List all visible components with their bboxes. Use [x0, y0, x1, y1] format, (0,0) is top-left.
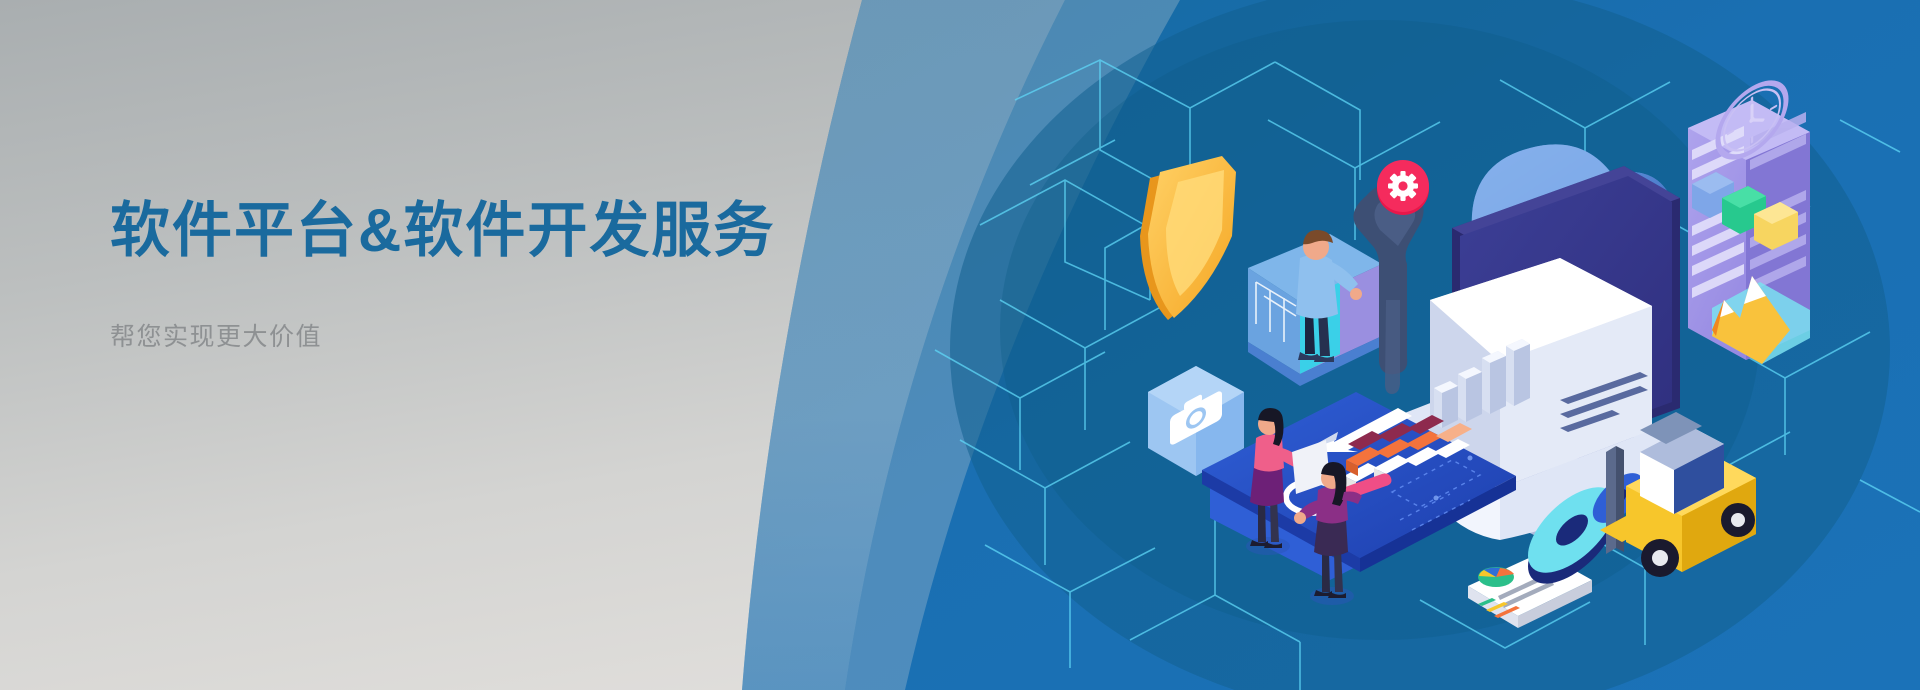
banner-text-block: 软件平台&软件开发服务 帮您实现更大价值 — [110, 196, 870, 353]
gear-badge-icon — [1377, 160, 1429, 215]
pie-chart-icon — [1478, 567, 1514, 587]
page-title: 软件平台&软件开发服务 — [110, 196, 870, 267]
page-subtitle: 帮您实现更大价值 — [110, 321, 870, 354]
hero-banner: 软件平台&软件开发服务 帮您实现更大价值 — [0, 0, 1920, 690]
